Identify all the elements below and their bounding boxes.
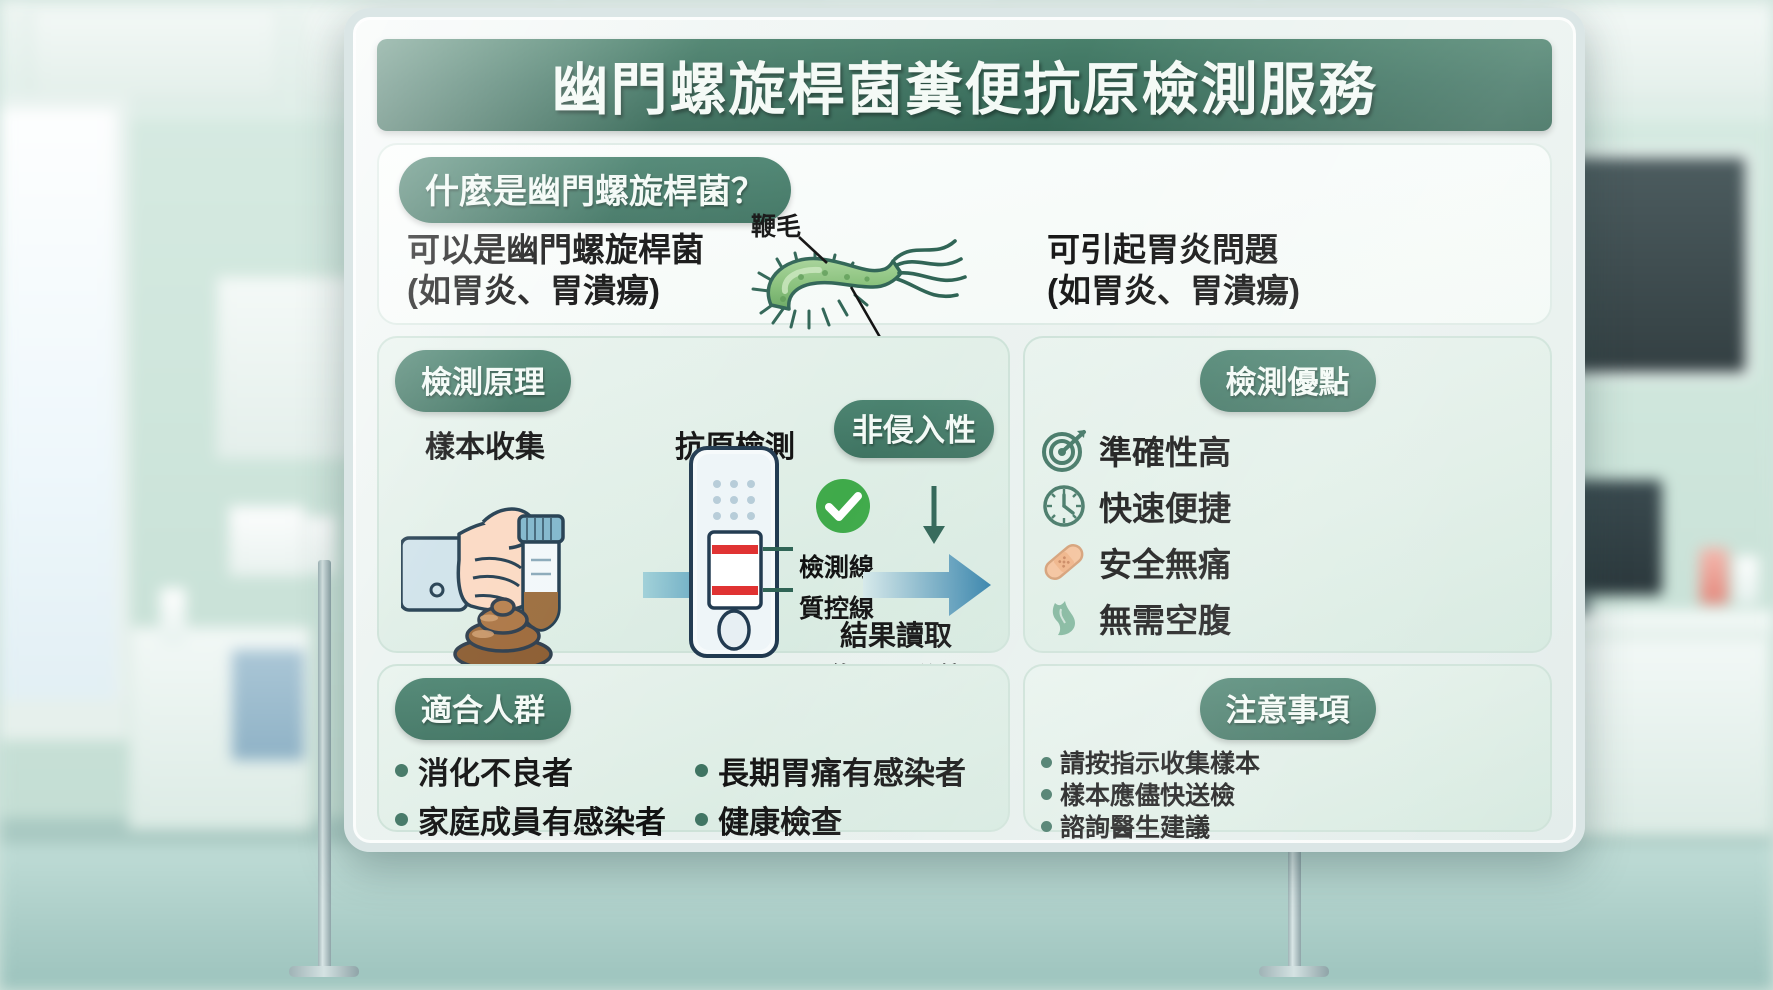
no-fasting-icon (1041, 595, 1087, 641)
bullet-dot (395, 764, 408, 777)
list-item: 消化不良者 (395, 748, 695, 793)
intro-right-text: 可引起胃炎問題 (如胃炎、胃潰瘍) (1047, 229, 1329, 312)
test-cassette-icon (681, 444, 793, 662)
suitable-list: 消化不良者 長期胃痛有感染者 家庭成員有感染者 健康檢查 (395, 748, 992, 842)
advantage-label: 安全無痛 (1099, 538, 1231, 586)
principle-flow-diagram: 檢測線 質控線 (395, 466, 992, 676)
down-arrow-icon (919, 486, 949, 546)
advantages-list: 準確性高 (1041, 422, 1534, 646)
advantage-item: 安全無痛 (1041, 534, 1534, 590)
bullet-dot (1041, 821, 1052, 832)
bottle-red (1700, 548, 1728, 604)
section-heading-advantages: 檢測優點 (1200, 350, 1376, 412)
easel-leg-left (318, 560, 331, 975)
bullet-dot (695, 764, 708, 777)
note-label: 諮詢醫生建議 (1060, 808, 1210, 844)
label-flagella: 鞭毛 (751, 207, 801, 243)
list-item: 家庭成員有感染者 (395, 797, 695, 842)
upper-cabinet-left (215, 275, 365, 460)
clock-icon (1041, 483, 1087, 529)
note-label: 樣本應儘快送檢 (1060, 776, 1235, 812)
section-suitable-people: 適合人群 消化不良者 長期胃痛有感染者 家庭成員有感染者 (377, 664, 1010, 832)
page-title: 幽門螺旋桿菌糞便抗原檢測服務 (552, 44, 1378, 126)
suitable-label: 健康檢查 (718, 797, 842, 842)
list-item: 長期胃痛有感染者 (695, 748, 992, 793)
list-item: 樣本應儘快送檢 (1041, 778, 1534, 810)
advantage-item: 準確性高 (1041, 422, 1534, 478)
suitable-label: 長期胃痛有感染者 (718, 748, 966, 793)
list-item: 健康檢查 (695, 797, 992, 842)
window (0, 95, 130, 715)
section-what-is-it: 什麼是幽門螺旋桿菌？ 可以是幽門螺旋桿菌 (如胃炎、胃潰瘍) (377, 143, 1552, 325)
notes-list: 請按指示收集樣本 樣本應儘快送檢 諮詢醫生建議 (1041, 746, 1534, 842)
bottle-left (160, 588, 186, 644)
bullet-dot (1041, 789, 1052, 800)
section-notes: 注意事項 請按指示收集樣本 樣本應儘快送檢 諮詢醫 (1023, 664, 1552, 832)
bullet-dot (395, 813, 408, 826)
bottle-white (1735, 556, 1759, 604)
sample-collection-icon (401, 460, 661, 665)
target-icon (1041, 427, 1087, 473)
list-item: 請按指示收集樣本 (1041, 746, 1534, 778)
poster-title-bar: 幽門螺旋桿菌糞便抗原檢測服務 (377, 39, 1552, 131)
suitable-label: 家庭成員有感染者 (418, 797, 666, 842)
advantage-label: 快速便捷 (1099, 482, 1231, 530)
suitable-label: 消化不良者 (418, 748, 573, 793)
scene: 幽門螺旋桿菌糞便抗原檢測服務 什麼是幽門螺旋桿菌？ 可以是幽門螺旋桿菌 (如胃炎… (0, 0, 1773, 990)
poster-board: 幽門螺旋桿菌糞便抗原檢測服務 什麼是幽門螺旋桿菌？ 可以是幽門螺旋桿菌 (如胃炎… (344, 8, 1585, 852)
advantage-item: 無需空腹 (1041, 590, 1534, 646)
positive-check-icon (813, 476, 873, 536)
section-test-principle: 檢測原理 非侵入性 樣本收集 抗原檢測 (377, 336, 1010, 653)
easel-foot-right (1259, 966, 1329, 977)
blue-drawer (232, 650, 304, 760)
section-advantages: 檢測優點 準確性高 (1023, 336, 1552, 653)
advantage-label: 無需空腹 (1099, 594, 1231, 642)
section-heading-suitable: 適合人群 (395, 678, 571, 740)
supply-box-a (228, 505, 306, 577)
list-item: 諮詢醫生建議 (1041, 810, 1534, 842)
easel-foot-left (289, 966, 359, 977)
bandage-icon (1041, 539, 1087, 585)
bullet-dot (695, 813, 708, 826)
section-heading-intro: 什麼是幽門螺旋桿菌？ (399, 157, 791, 223)
advantage-item: 快速便捷 (1041, 478, 1534, 534)
readout-title: 結果讀取 (806, 614, 986, 654)
floor (0, 845, 1773, 990)
note-label: 請按指示收集樣本 (1060, 744, 1260, 780)
section-heading-principle: 檢測原理 (395, 350, 571, 412)
bullet-dot (1041, 757, 1052, 768)
section-heading-notes: 注意事項 (1200, 678, 1376, 740)
advantage-label: 準確性高 (1099, 426, 1231, 474)
flow-arrow-2-icon (863, 550, 993, 620)
intro-left-text: 可以是幽門螺旋桿菌 (如胃炎、胃潰瘍) (407, 229, 729, 312)
